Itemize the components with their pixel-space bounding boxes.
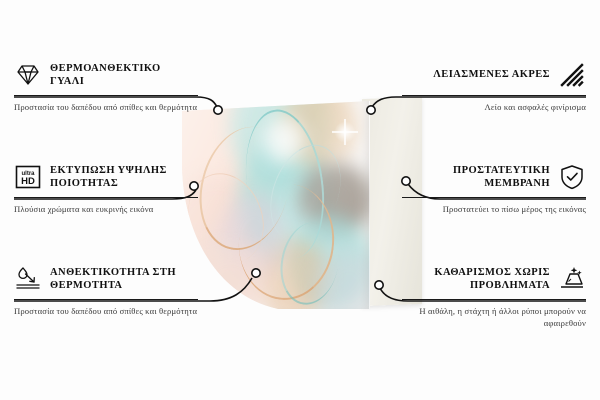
ultra-hd-icon: ultra HD	[14, 163, 42, 191]
feature-description: Λείο και ασφαλές φινίρισμα	[402, 101, 586, 113]
polished-edges-icon	[558, 61, 586, 89]
divider	[14, 299, 198, 300]
easy-clean-icon	[558, 265, 586, 293]
divider	[402, 197, 586, 198]
feature-polished-edges: ΛΕΙΑΣΜΕΝΕΣ ΑΚΡΕΣ Λείο και ασφαλές φινίρι…	[402, 60, 586, 113]
printed-glass-artwork	[182, 101, 372, 309]
divider	[14, 95, 198, 96]
feature-easy-cleaning: ΚΑΘΑΡΙΣΜΟΣ ΧΩΡΙΣ ΠΡΟΒΛΗΜΑΤΑ Η αιθάλη, η …	[402, 264, 586, 330]
diamond-icon	[14, 61, 42, 89]
feature-heat-resistance: ΑΝΘΕΚΤΙΚΟΤΗΤΑ ΣΤΗ ΘΕΡΜΟΤΗΤΑ Προστασία το…	[14, 264, 198, 317]
feature-description: Προστασία του δαπέδου από σπίθες και θερ…	[14, 101, 198, 113]
marble-artwork	[182, 101, 372, 309]
divider	[402, 299, 586, 300]
feature-heat-resistant-glass: ΘΕΡΜΟΑΝΘΕΚΤΙΚΟ ΓΥΑΛΙ Προστασία του δαπέδ…	[14, 60, 198, 113]
feature-description: Προστασία του δαπέδου από σπίθες και θερ…	[14, 305, 198, 317]
feature-description: Πλούσια χρώματα και ευκρινής εικόνα	[14, 203, 198, 215]
product-image	[170, 85, 430, 325]
feature-description: Προστατεύει το πίσω μέρος της εικόνας	[402, 203, 586, 215]
feature-title: ΑΝΘΕΚΤΙΚΟΤΗΤΑ ΣΤΗ ΘΕΡΜΟΤΗΤΑ	[50, 266, 198, 292]
heat-resistance-icon	[14, 265, 42, 293]
feature-title: ΠΡΟΣΤΑΤΕΥΤΙΚΗ ΜΕΜΒΡΑΝΗ	[402, 164, 550, 190]
feature-title: ΕΚΤΥΠΩΣΗ ΥΨΗΛΗΣ ΠΟΙΟΤΗΤΑΣ	[50, 164, 198, 190]
divider	[14, 197, 198, 198]
svg-text:HD: HD	[21, 176, 35, 187]
feature-protective-membrane: ΠΡΟΣΤΑΤΕΥΤΙΚΗ ΜΕΜΒΡΑΝΗ Προστατεύει το πί…	[402, 162, 586, 215]
feature-description: Η αιθάλη, η στάχτη ή άλλοι ρύποι μπορούν…	[402, 305, 586, 330]
feature-title: ΘΕΡΜΟΑΝΘΕΚΤΙΚΟ ΓΥΑΛΙ	[50, 62, 198, 88]
infographic-stage: ΘΕΡΜΟΑΝΘΕΚΤΙΚΟ ΓΥΑΛΙ Προστασία του δαπέδ…	[0, 0, 600, 400]
shield-check-icon	[558, 163, 586, 191]
divider	[402, 95, 586, 96]
feature-title: ΛΕΙΑΣΜΕΝΕΣ ΑΚΡΕΣ	[433, 68, 550, 81]
feature-title: ΚΑΘΑΡΙΣΜΟΣ ΧΩΡΙΣ ΠΡΟΒΛΗΜΑΤΑ	[402, 266, 550, 292]
feature-high-quality-print: ultra HD ΕΚΤΥΠΩΣΗ ΥΨΗΛΗΣ ΠΟΙΟΤΗΤΑΣ Πλούσ…	[14, 162, 198, 215]
